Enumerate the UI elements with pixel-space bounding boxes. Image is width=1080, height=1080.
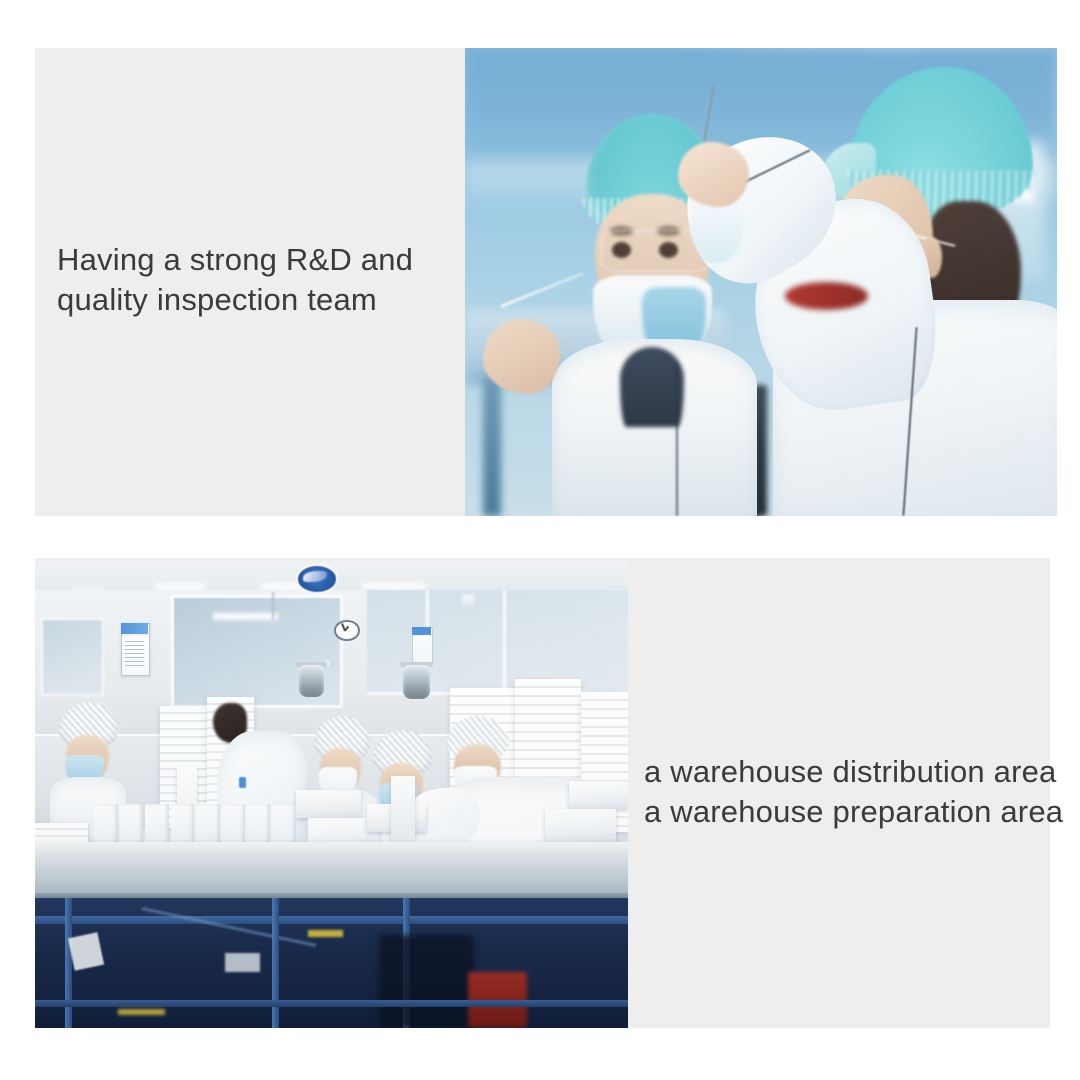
wall-notice-header-secondary <box>412 627 431 634</box>
stainless-steel-table-top <box>35 842 628 898</box>
steel-vessel <box>299 665 324 698</box>
air-duct <box>462 595 474 611</box>
technician-left-collar <box>620 347 684 427</box>
rnd-caption: Having a strong R&D and quality inspecti… <box>57 240 457 320</box>
hanging-hose <box>272 592 274 620</box>
loose-paper <box>225 953 261 972</box>
window-interior-light <box>213 613 278 620</box>
technician-left-coat-seam <box>676 363 678 516</box>
under-table-shadow <box>379 935 474 1028</box>
table-leg <box>65 898 72 1028</box>
wall-clock-icon <box>334 620 359 641</box>
loose-paper <box>68 932 104 970</box>
promo-banner-page: Having a strong R&D and quality inspecti… <box>0 0 1080 1080</box>
table-frame-rail <box>35 1000 628 1007</box>
rnd-caption-line-1: Having a strong R&D and <box>57 240 457 280</box>
window-mullion <box>503 590 506 693</box>
technician-right-red-collar <box>785 282 868 310</box>
flat-carton <box>569 781 628 809</box>
wall-notice-header <box>121 623 148 634</box>
rnd-caption-line-2: quality inspection team <box>57 280 457 320</box>
warehouse-caption-line-1: a warehouse distribution area <box>644 752 1044 792</box>
bending-worker-badge <box>239 777 246 788</box>
warehouse-packing-photo <box>35 562 628 1028</box>
technician-right-hand <box>678 142 749 208</box>
wall-notice-text-lines <box>125 641 144 669</box>
tall-carton <box>391 776 415 846</box>
floor-marking <box>118 1009 165 1015</box>
cleanroom-window-left <box>41 618 104 697</box>
table-leg <box>272 898 279 1028</box>
flat-carton <box>296 790 361 818</box>
table-frame-rail <box>35 916 628 923</box>
warehouse-caption: a warehouse distribution area a warehous… <box>644 752 1044 832</box>
flat-carton <box>545 809 616 842</box>
lab-bench-leg <box>483 376 501 516</box>
steel-vessel <box>403 665 430 700</box>
lab-inspection-photo <box>465 48 1057 516</box>
technician-left-hand <box>483 319 560 394</box>
warehouse-caption-line-2: a warehouse preparation area <box>644 792 1044 832</box>
floor-marking <box>308 930 344 937</box>
